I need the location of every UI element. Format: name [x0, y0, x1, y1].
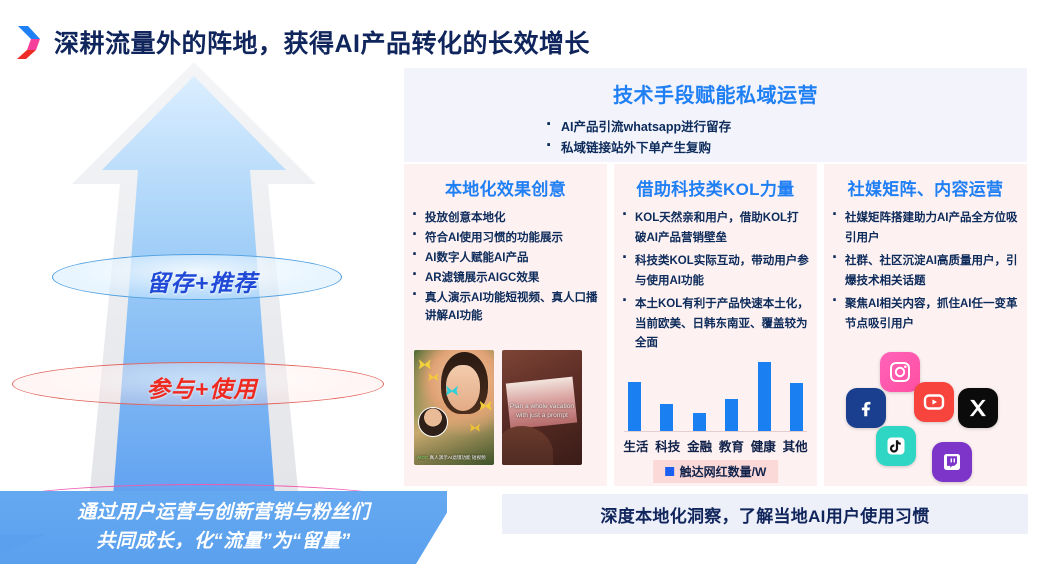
chart-axis-line — [624, 431, 807, 432]
chart-bar — [790, 383, 803, 432]
photo-collage: AIGC 真人演示AI滤镜功能 短视频 Plan a whole vacatio… — [414, 350, 582, 465]
photo-caption: AIGC 真人演示AI滤镜功能 短视频 — [417, 455, 491, 462]
list-item: 符合AI使用习惯的功能展示 — [410, 229, 599, 247]
instagram-icon — [880, 352, 920, 392]
photo-hand-shape — [502, 426, 553, 465]
chart-bar — [660, 404, 673, 432]
chart-category-label: 其他 — [779, 436, 811, 455]
list-item: KOL天然亲和用户，借助KOL打破AI产品营销壁垒 — [620, 209, 809, 248]
bottom-left-banner-text: 通过用户运营与创新营销与粉丝们 共同成长，化“流量”为“留量” — [0, 498, 447, 556]
photo-face-shape — [446, 365, 480, 411]
chart-category-label: 科技 — [652, 436, 684, 455]
column-title: 社媒矩阵、内容运营 — [824, 164, 1027, 200]
strategy-columns: 本地化效果创意 投放创意本地化 符合AI使用习惯的功能展示 AI数字人赋能AI产… — [404, 164, 1027, 486]
travel-card-photo: Plan a whole vacation with just a prompt — [502, 350, 582, 465]
column-bullets: KOL天然亲和用户，借助KOL打破AI产品营销壁垒 科技类KOL实际互动，带动用… — [614, 209, 817, 354]
chart-category-labels: 生活科技金融教育健康其他 — [620, 436, 811, 455]
page-title: 深耕流量外的阵地，获得AI产品转化的长效增长 — [54, 24, 590, 60]
tiktok-icon — [876, 426, 916, 466]
legend-label: 触达网红数量/W — [680, 463, 767, 480]
bottom-left-line-1: 通过用户运营与创新营销与粉丝们 — [0, 498, 447, 527]
growth-pyramid-diagram: 留存+推荐 参与+使用 认知+接触 — [0, 62, 404, 510]
youtube-icon — [914, 382, 954, 422]
list-item: AR滤镜展示AIGC效果 — [410, 269, 599, 287]
slide-header: 深耕流量外的阵地，获得AI产品转化的长效增长 — [0, 18, 590, 66]
brand-chevron-logo — [14, 24, 44, 60]
chart-category-label: 生活 — [620, 436, 652, 455]
tech-enablement-banner: 技术手段赋能私域运营 AI产品引流whatsapp进行留存 私域链接站外下单产生… — [404, 68, 1027, 162]
bottom-right-banner-text: 深度本地化洞察，了解当地AI用户使用习惯 — [601, 502, 930, 527]
slide-canvas: 深耕流量外的阵地，获得AI产品转化的长效增长 留存+ — [0, 0, 1039, 585]
twitch-icon — [932, 442, 972, 482]
list-item: 私域链接站外下单产生复购 — [544, 138, 1027, 159]
list-item: 真人演示AI功能短视频、真人口播讲解AI功能 — [410, 289, 599, 325]
chart-bar — [628, 382, 641, 432]
chart-bar — [693, 413, 706, 432]
list-item: 社媒矩阵搭建助力AI产品全方位吸引用户 — [830, 209, 1019, 248]
list-item: 聚焦AI相关内容，抓住AI任一变革节点吸引用户 — [830, 295, 1019, 334]
bottom-left-line-2: 共同成长，化“流量”为“留量” — [0, 527, 447, 556]
facebook-icon — [846, 388, 886, 428]
list-item: AI产品引流whatsapp进行留存 — [544, 117, 1027, 138]
bottom-right-banner: 深度本地化洞察，了解当地AI用户使用习惯 — [502, 494, 1028, 534]
list-item: 科技类KOL实际互动，带动用户参与使用AI功能 — [620, 252, 809, 291]
photo-caption-text: 真人演示AI滤镜功能 短视频 — [430, 455, 486, 460]
bottom-left-banner: 通过用户运营与创新营销与粉丝们 共同成长，化“流量”为“留量” — [0, 491, 447, 564]
chart-bar — [758, 362, 771, 432]
chart-category-label: 金融 — [684, 436, 716, 455]
list-item: 投放创意本地化 — [410, 209, 599, 227]
chart-category-label: 健康 — [747, 436, 779, 455]
column-bullets: 投放创意本地化 符合AI使用习惯的功能展示 AI数字人赋能AI产品 AR滤镜展示… — [404, 209, 607, 325]
avatar — [418, 407, 448, 437]
photo-caption-highlight: AIGC — [417, 455, 428, 460]
chart-category-label: 教育 — [716, 436, 748, 455]
list-item: AI数字人赋能AI产品 — [410, 249, 599, 267]
social-platform-icons — [824, 350, 1027, 470]
photo-caption: Plan a whole vacation with just a prompt — [508, 402, 576, 420]
chart-bars — [628, 356, 803, 432]
x-twitter-icon — [958, 388, 998, 428]
tech-enablement-title: 技术手段赋能私域运营 — [404, 68, 1027, 108]
butterfly-filter-icon — [470, 424, 480, 432]
column-tech-kol: 借助科技类KOL力量 KOL天然亲和用户，借助KOL打破AI产品营销壁垒 科技类… — [614, 164, 817, 486]
stage-label-engagement: 参与+使用 — [0, 370, 404, 404]
chart-bar — [725, 399, 738, 432]
butterfly-filter-icon — [428, 373, 438, 381]
butterfly-filter-icon — [419, 359, 431, 369]
column-bullets: 社媒矩阵搭建助力AI产品全方位吸引用户 社群、社区沉淀AI高质量用户，引爆技术相… — [824, 209, 1027, 334]
column-title: 本地化效果创意 — [404, 164, 607, 200]
column-title: 借助科技类KOL力量 — [614, 164, 817, 200]
chart-legend: 触达网红数量/W — [653, 460, 779, 483]
legend-swatch-icon — [665, 467, 674, 476]
list-item: 社群、社区沉淀AI高质量用户，引爆技术相关话题 — [830, 252, 1019, 291]
butterfly-filter-icon — [480, 401, 492, 411]
kol-reach-bar-chart — [620, 356, 811, 432]
column-social-matrix: 社媒矩阵、内容运营 社媒矩阵搭建助力AI产品全方位吸引用户 社群、社区沉淀AI高… — [824, 164, 1027, 486]
ar-filter-portrait-photo: AIGC 真人演示AI滤镜功能 短视频 — [414, 350, 494, 465]
tech-enablement-bullets: AI产品引流whatsapp进行留存 私域链接站外下单产生复购 — [404, 117, 1027, 159]
column-localization-creative: 本地化效果创意 投放创意本地化 符合AI使用习惯的功能展示 AI数字人赋能AI产… — [404, 164, 607, 486]
stage-label-retention: 留存+推荐 — [0, 264, 404, 298]
list-item: 本土KOL有利于产品快速本土化，当前欧美、日韩东南亚、覆盖较为全面 — [620, 295, 809, 354]
